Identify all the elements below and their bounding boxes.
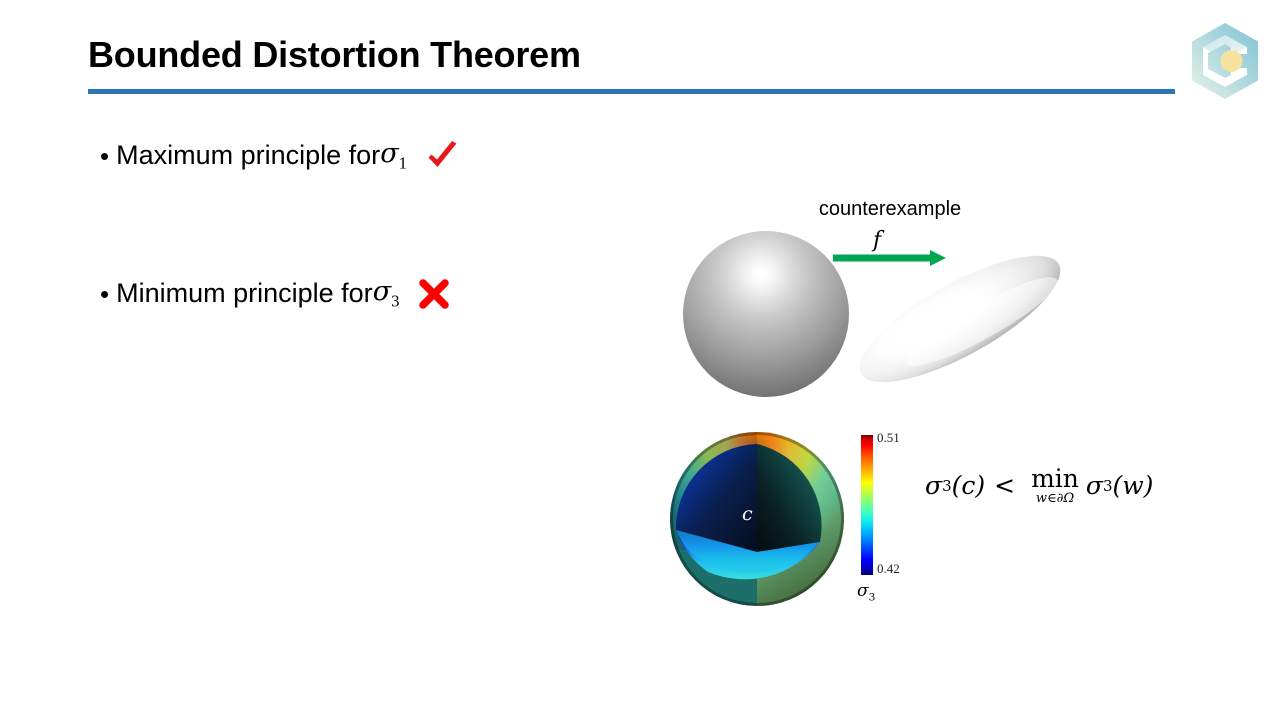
colorbar-max-tick: 0.51: [877, 430, 900, 446]
bullet-label: Minimum principle for: [116, 278, 373, 309]
colorbar-axis-label: σ3: [857, 581, 875, 603]
inequality-rhs-symbol: σ: [1086, 471, 1103, 500]
hexagon-g-logo: [1186, 20, 1264, 102]
inequality-lhs-arg: (c): [952, 471, 986, 500]
inequality-rhs-arg: (w): [1113, 471, 1154, 500]
cutaway-sphere-figure: [668, 430, 846, 608]
colorbar-min-tick: 0.42: [877, 561, 900, 577]
title-divider: [88, 89, 1175, 94]
min-operator: min w∈∂Ω: [1031, 466, 1079, 505]
bullet-item-maximum-principle: • Maximum principle for σ1: [100, 138, 461, 173]
inequality-rhs-sub: 3: [1103, 477, 1113, 495]
cross-icon: [418, 278, 450, 310]
inequality-relation: <: [994, 471, 1015, 500]
source-sphere-shape: [683, 231, 849, 397]
page-title: Bounded Distortion Theorem: [88, 34, 581, 76]
bullet-item-minimum-principle: • Minimum principle for σ3: [100, 276, 450, 311]
slide-canvas: Bounded Distortion Theorem •: [0, 0, 1280, 718]
check-icon: [425, 140, 461, 172]
min-operator-label: min: [1031, 466, 1079, 491]
sigma-3-symbol: σ3: [373, 276, 400, 311]
min-operator-subscript: w∈∂Ω: [1036, 492, 1074, 505]
bullet-label: Maximum principle for: [116, 140, 380, 171]
bullet-marker: •: [100, 143, 109, 169]
target-ellipsoid-shape: [845, 243, 1075, 395]
inequality-lhs-sub: 3: [942, 477, 952, 495]
inequality-formula: σ3(c) < min w∈∂Ω σ3(w): [925, 466, 1153, 505]
sphere-center-point-label: c: [742, 503, 753, 525]
colorbar: [861, 435, 873, 575]
inequality-lhs-symbol: σ: [925, 471, 942, 500]
bullet-marker: •: [100, 281, 109, 307]
sigma-1-symbol: σ1: [380, 138, 407, 173]
counterexample-caption: counterexample: [790, 198, 990, 221]
